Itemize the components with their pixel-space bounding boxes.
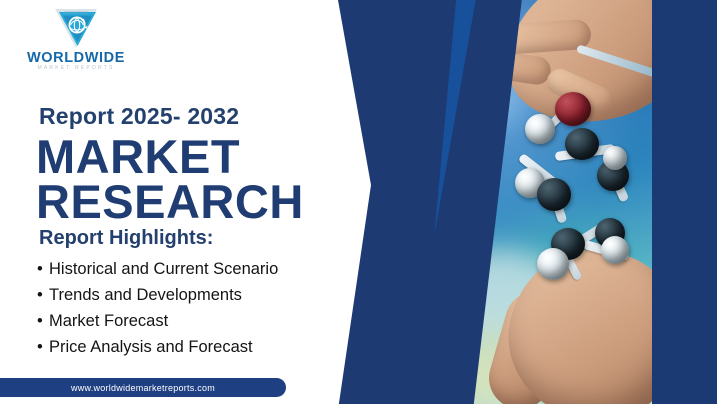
brand-logo[interactable]: WORLDWIDE WORLDWIDE MARKET REPORTS xyxy=(26,6,122,78)
bullet-dot-icon: • xyxy=(37,334,49,360)
triangle-globe-logo-icon: WORLDWIDE xyxy=(52,6,100,50)
market-research-banner: WORLDWIDE WORLDWIDE MARKET REPORTS Repor… xyxy=(0,0,717,404)
bullet-dot-icon: • xyxy=(37,308,49,334)
page-title-line-2: RESEARCH xyxy=(36,178,304,225)
list-item-label: Historical and Current Scenario xyxy=(49,260,278,278)
logo-tagline: MARKET REPORTS xyxy=(26,65,126,71)
report-highlights-list: •Historical and Current Scenario •Trends… xyxy=(37,256,278,360)
website-url-bar[interactable]: www.worldwidemarketreports.com xyxy=(0,378,286,397)
list-item: •Trends and Developments xyxy=(37,282,278,308)
list-item: •Historical and Current Scenario xyxy=(37,256,278,282)
molecule-atom-oxygen xyxy=(555,92,591,126)
logo-wordmark: WORLDWIDE xyxy=(26,50,126,66)
list-item: •Market Forecast xyxy=(37,308,278,334)
left-content-panel: WORLDWIDE WORLDWIDE MARKET REPORTS Repor… xyxy=(0,0,360,404)
list-item: •Price Analysis and Forecast xyxy=(37,334,278,360)
report-year-range: Report 2025- 2032 xyxy=(39,103,239,130)
list-item-label: Price Analysis and Forecast xyxy=(49,338,253,356)
molecule-atom-hydrogen xyxy=(601,236,629,264)
bullet-dot-icon: • xyxy=(37,282,49,308)
right-graphic-panel xyxy=(317,0,717,404)
svg-text:WORLDWIDE: WORLDWIDE xyxy=(64,11,88,15)
molecule-atom-hydrogen xyxy=(537,248,569,280)
list-item-label: Trends and Developments xyxy=(49,286,242,304)
molecule-atom-hydrogen xyxy=(603,146,627,170)
molecule-atom-carbon xyxy=(537,178,571,211)
report-highlights-heading: Report Highlights: xyxy=(39,227,213,250)
bullet-dot-icon: • xyxy=(37,256,49,282)
molecule-atom-hydrogen xyxy=(525,114,555,144)
page-title-line-1: MARKET xyxy=(36,133,240,180)
list-item-label: Market Forecast xyxy=(49,312,168,330)
molecule-atom-carbon xyxy=(565,128,599,160)
website-url-text: www.worldwidemarketreports.com xyxy=(71,383,215,393)
